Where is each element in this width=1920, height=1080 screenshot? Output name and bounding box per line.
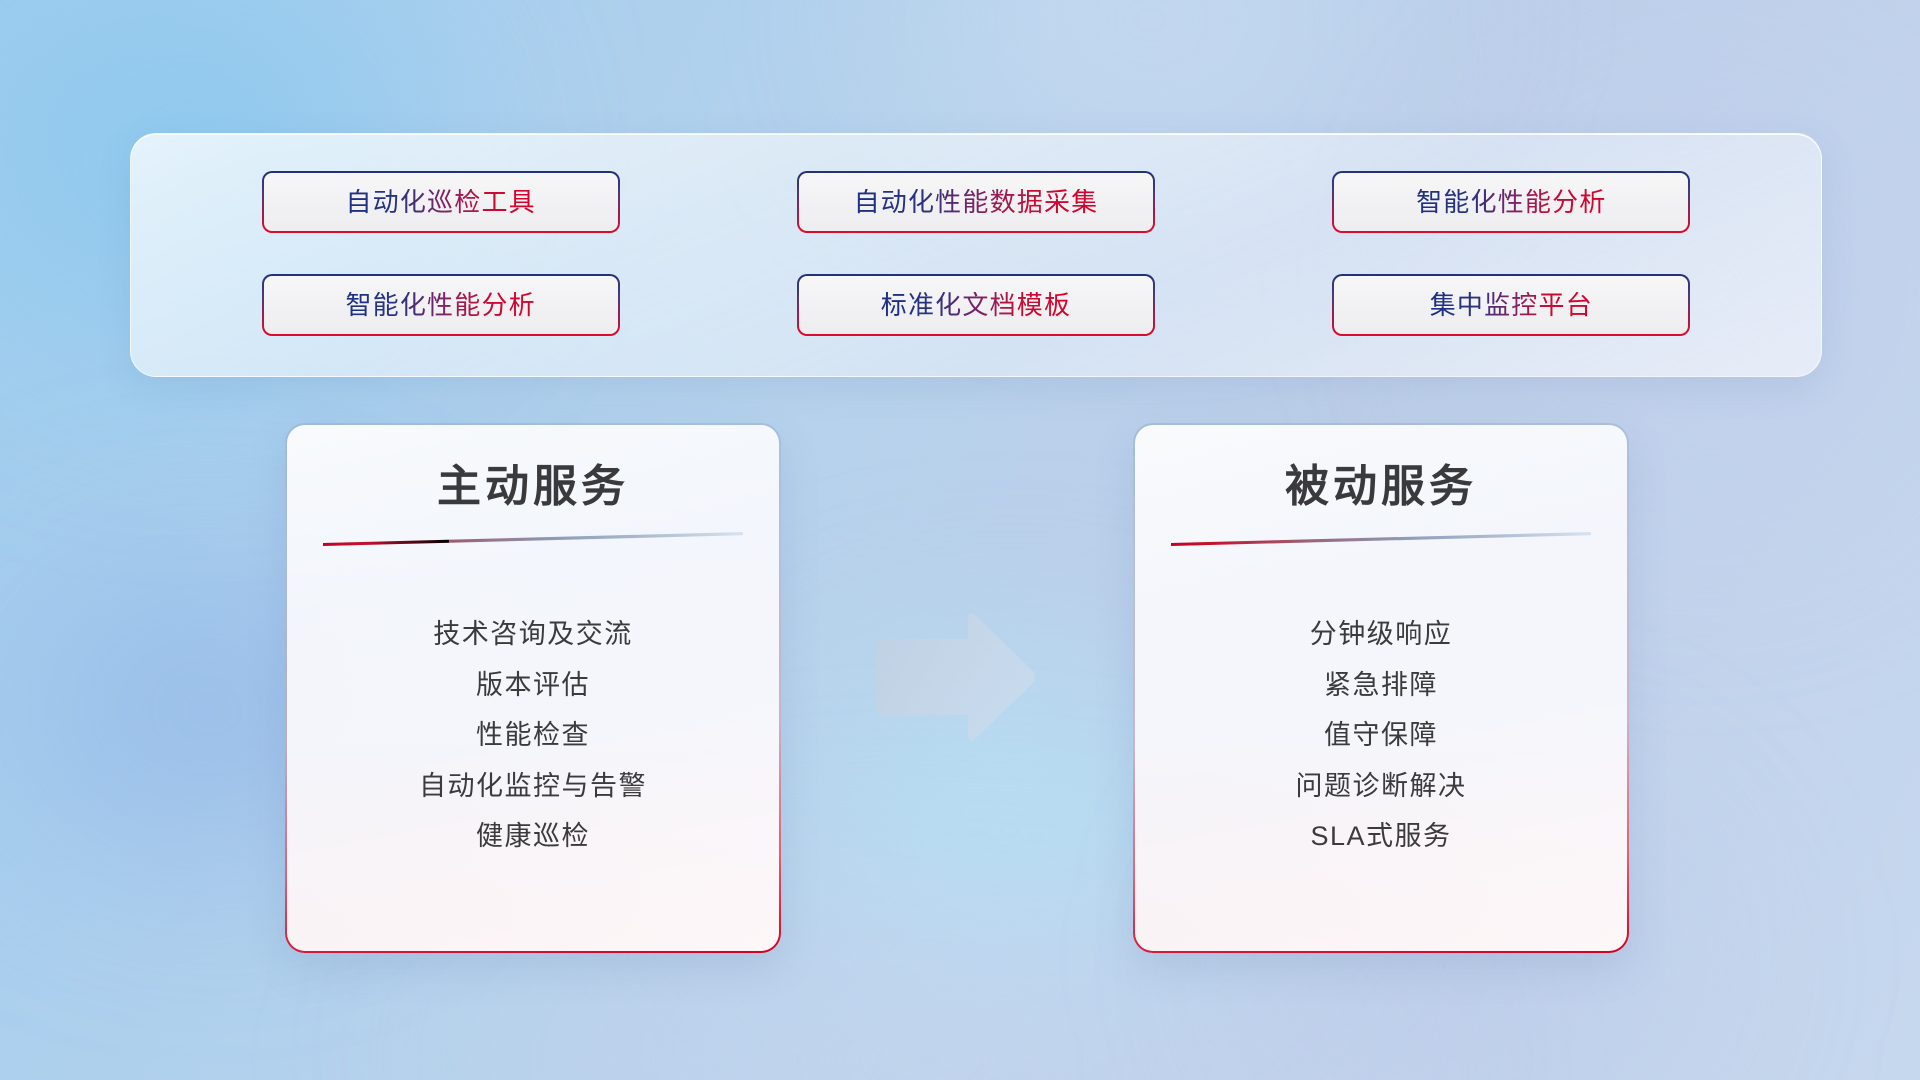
capability-panel: 自动化巡检工具 自动化性能数据采集 智能化性能分析 智能化性能分析 标准化文档模…	[130, 133, 1822, 377]
service-card-title: 被动服务	[1285, 459, 1477, 514]
title-divider-icon	[1171, 532, 1591, 546]
pill-surface: 自动化巡检工具	[264, 173, 618, 231]
list-item: 紧急排障	[1169, 667, 1593, 703]
capability-pill-label: 标准化文档模板	[881, 292, 1071, 318]
list-item: 健康巡检	[321, 818, 745, 854]
capability-pill-label: 智能化性能分析	[1416, 189, 1606, 215]
list-item: 问题诊断解决	[1169, 768, 1593, 804]
capability-pill-central-monitoring-platform[interactable]: 集中监控平台	[1332, 274, 1690, 336]
list-item: SLA式服务	[1169, 818, 1593, 854]
list-item: 值守保障	[1169, 717, 1593, 753]
service-card-reactive[interactable]: 被动服务 分钟级响应 紧急排障 值守保障 问题诊断解决 SLA式服务	[1133, 423, 1629, 953]
title-divider-icon	[323, 532, 743, 546]
list-item: 版本评估	[321, 667, 745, 703]
capability-pill-label: 自动化巡检工具	[345, 189, 535, 215]
right-arrow-icon	[868, 612, 1038, 742]
service-card-surface: 被动服务 分钟级响应 紧急排障 值守保障 问题诊断解决 SLA式服务	[1135, 425, 1627, 951]
list-item: 自动化监控与告警	[321, 768, 745, 804]
pill-surface: 集中监控平台	[1334, 276, 1688, 334]
service-card-list: 技术咨询及交流 版本评估 性能检查 自动化监控与告警 健康巡检	[321, 550, 745, 921]
pill-surface: 自动化性能数据采集	[799, 173, 1153, 231]
service-card-surface: 主动服务 技术咨询及交流 版本评估 性能检查 自动化监控与告警 健康巡检	[287, 425, 779, 951]
flow-arrow	[868, 612, 1038, 742]
service-card-proactive[interactable]: 主动服务 技术咨询及交流 版本评估 性能检查 自动化监控与告警 健康巡检	[285, 423, 781, 953]
capability-pill-standard-doc-template[interactable]: 标准化文档模板	[797, 274, 1155, 336]
capability-pill-label: 集中监控平台	[1430, 292, 1593, 318]
pill-surface: 智能化性能分析	[264, 276, 618, 334]
capability-pill-auto-perf-data-collection[interactable]: 自动化性能数据采集	[797, 171, 1155, 233]
capability-pill-auto-inspection-tool[interactable]: 自动化巡检工具	[262, 171, 620, 233]
capability-pill-intelligent-perf-analysis-2[interactable]: 智能化性能分析	[262, 274, 620, 336]
capability-pill-intelligent-perf-analysis[interactable]: 智能化性能分析	[1332, 171, 1690, 233]
list-item: 性能检查	[321, 717, 745, 753]
list-item: 分钟级响应	[1169, 616, 1593, 652]
service-card-title: 主动服务	[437, 459, 629, 514]
capability-pill-label: 自动化性能数据采集	[854, 189, 1099, 215]
pill-surface: 智能化性能分析	[1334, 173, 1688, 231]
capability-pill-label: 智能化性能分析	[345, 292, 535, 318]
service-card-list: 分钟级响应 紧急排障 值守保障 问题诊断解决 SLA式服务	[1169, 550, 1593, 921]
list-item: 技术咨询及交流	[321, 616, 745, 652]
pill-surface: 标准化文档模板	[799, 276, 1153, 334]
